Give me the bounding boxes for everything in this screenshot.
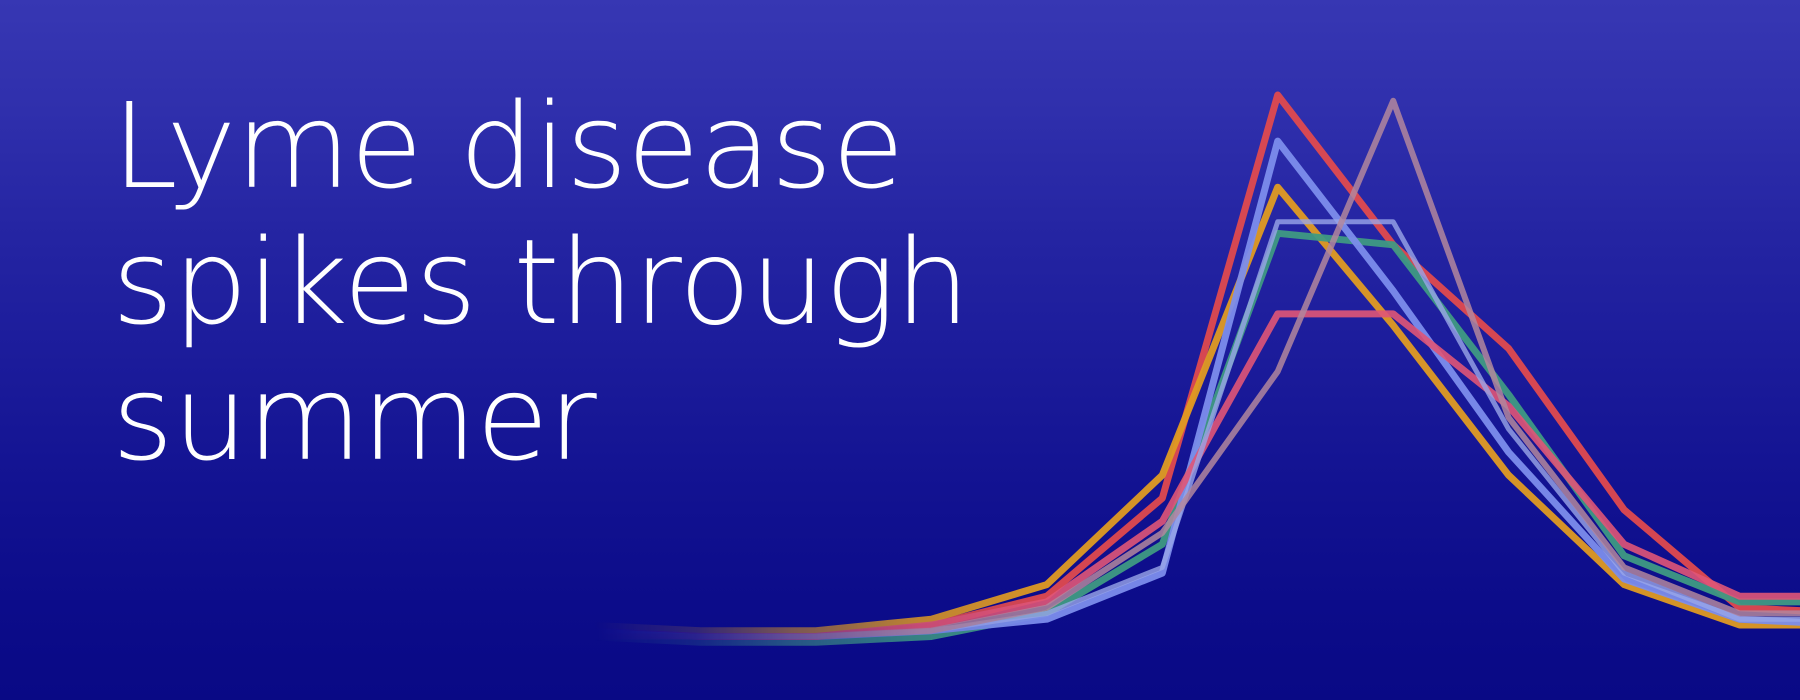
lyme-disease-banner: Lyme disease spikes through summer bbox=[0, 0, 1800, 700]
page-title: Lyme disease spikes through summer bbox=[112, 78, 1012, 486]
